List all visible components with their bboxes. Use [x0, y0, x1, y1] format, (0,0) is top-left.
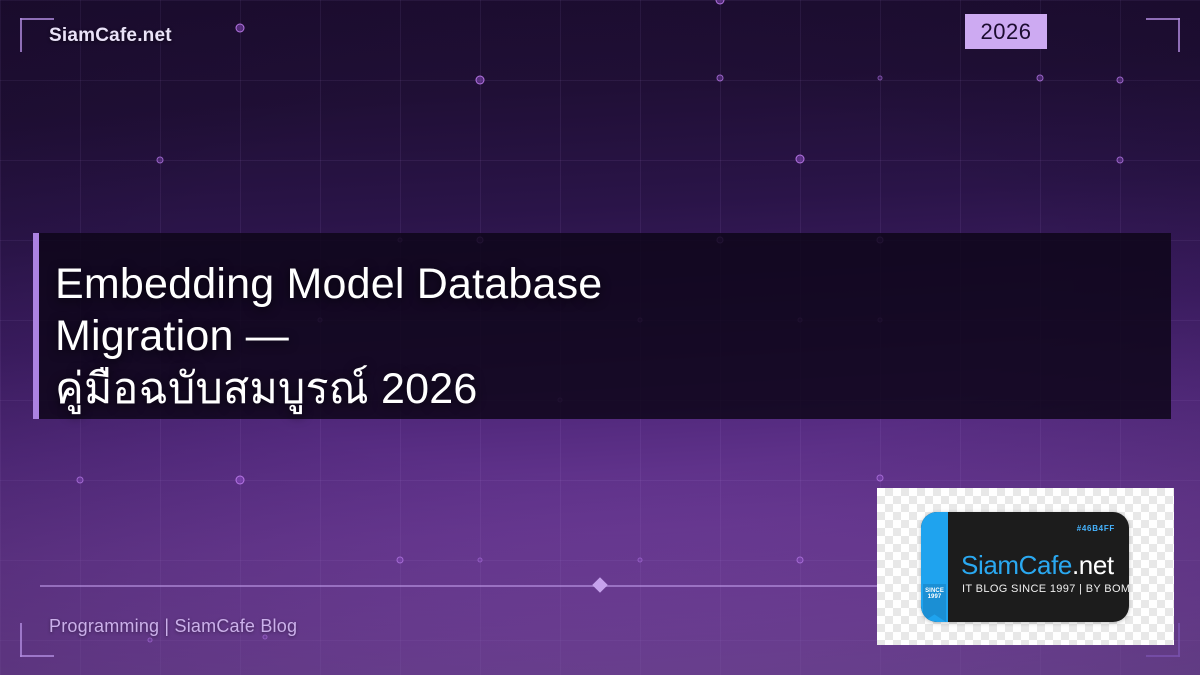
logo-wordmark-suffix: .net — [1072, 550, 1114, 580]
corner-bracket-top-right — [1146, 18, 1180, 52]
poster-canvas: SiamCafe.net 2026 Embedding Model Databa… — [0, 0, 1200, 675]
decorative-dot — [236, 24, 245, 33]
decorative-dot — [878, 76, 883, 81]
decorative-dot — [638, 558, 643, 563]
logo-wordmark: SiamCafe.net — [961, 550, 1114, 581]
breadcrumb: Programming | SiamCafe Blog — [49, 616, 297, 637]
decorative-dot — [236, 476, 245, 485]
decorative-dot — [157, 157, 164, 164]
decorative-dot — [797, 557, 804, 564]
decorative-dot — [717, 75, 724, 82]
year-badge-label: 2026 — [981, 19, 1032, 45]
decorative-dot — [1117, 157, 1124, 164]
decorative-dot — [478, 558, 483, 563]
logo-tagline: IT BLOG SINCE 1997 | BY BOM — [962, 583, 1129, 595]
decorative-dot — [77, 477, 84, 484]
site-brand-label: SiamCafe.net — [49, 25, 172, 47]
decorative-dot — [476, 76, 485, 85]
logo-card: SINCE 1997 #46B4FF SiamCafe.net IT BLOG … — [877, 488, 1174, 645]
decorative-dot — [1117, 77, 1124, 84]
hex-code-label: #46B4FF — [1077, 524, 1115, 533]
decorative-dot — [397, 557, 404, 564]
page-title: Embedding Model Database Migration — คู่… — [55, 258, 1155, 415]
decorative-dot — [1037, 75, 1044, 82]
year-badge: 2026 — [965, 14, 1047, 49]
decorative-dot — [796, 155, 805, 164]
decorative-dot — [148, 638, 153, 643]
title-accent-bar — [33, 233, 39, 419]
logo-badge: SINCE 1997 #46B4FF SiamCafe.net IT BLOG … — [921, 512, 1129, 622]
decorative-dot — [877, 475, 884, 482]
ribbon-line-2: 1997 — [928, 594, 942, 600]
logo-wordmark-primary: SiamCafe — [961, 550, 1072, 580]
